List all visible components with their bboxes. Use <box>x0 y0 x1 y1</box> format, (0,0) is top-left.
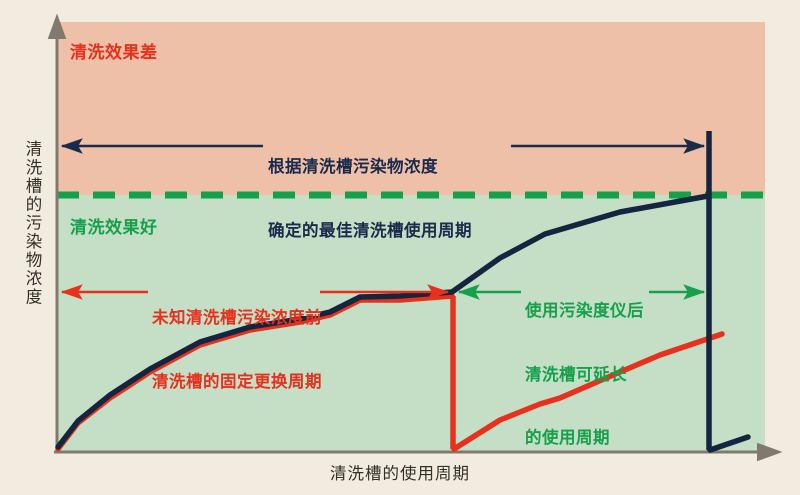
extended-cycle-annotation: 使用污染度仪后 清洗槽可延长 的使用周期 <box>525 258 644 490</box>
extended-cycle-annotation-line3: 的使用周期 <box>525 427 644 448</box>
optimal-cycle-annotation: 根据清洗槽污染物浓度 确定的最佳清洗槽使用周期 <box>268 114 472 283</box>
optimal-cycle-annotation-line1: 根据清洗槽污染物浓度 <box>268 156 472 177</box>
optimal-cycle-annotation-line2: 确定的最佳清洗槽使用周期 <box>268 220 472 241</box>
zone-label-poor: 清洗效果差 <box>70 43 158 65</box>
x-axis-label: 清洗槽的使用周期 <box>0 463 800 484</box>
y-axis-label: 清洗槽的污染物浓度 <box>14 140 40 307</box>
extended-cycle-annotation-line1: 使用污染度仪后 <box>525 300 644 321</box>
extended-cycle-annotation-line2: 清洗槽可延长 <box>525 364 644 385</box>
chart-container: 清洗效果差 清洗效果好 根据清洗槽污染物浓度 确定的最佳清洗槽使用周期 未知清洗… <box>0 0 800 495</box>
fixed-cycle-annotation: 未知清洗槽污染浓度前 清洗槽的固定更换周期 <box>152 265 322 434</box>
fixed-cycle-annotation-line2: 清洗槽的固定更换周期 <box>152 371 322 392</box>
fixed-cycle-annotation-line1: 未知清洗槽污染浓度前 <box>152 307 322 328</box>
zone-label-good: 清洗效果好 <box>70 218 158 240</box>
